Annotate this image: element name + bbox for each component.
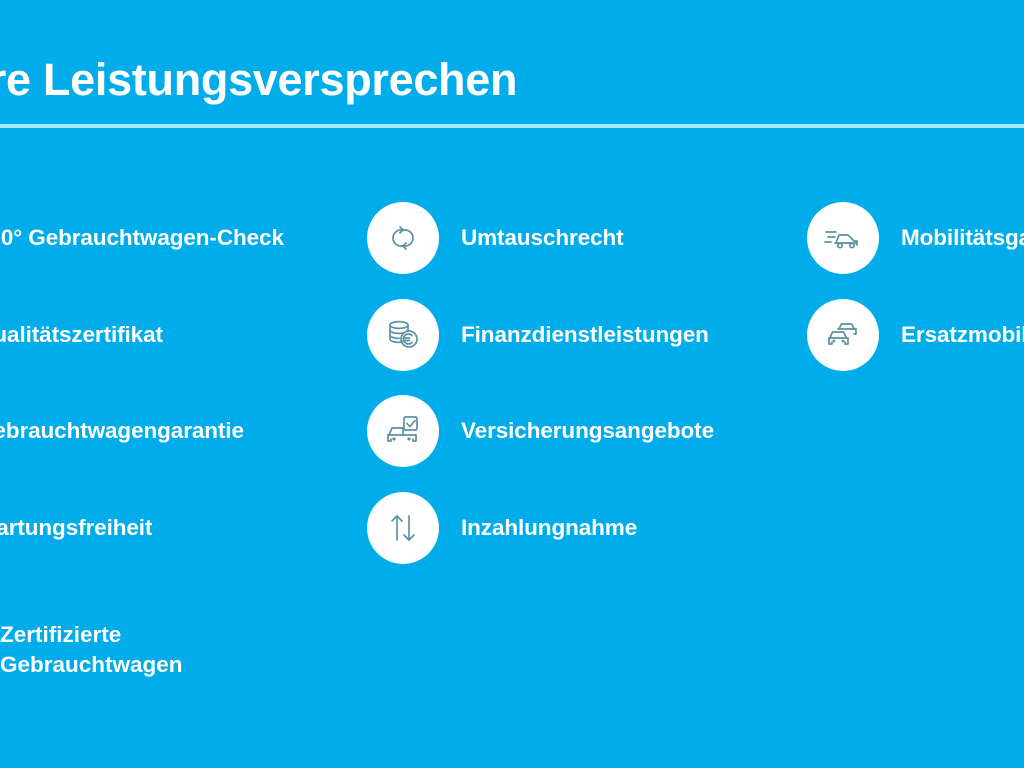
header-divider [0,124,1024,128]
feature-label: 360° Gebrauchtwagen-Check [0,225,284,251]
certified-badge-line-2: Gebrauchtwagen [0,650,402,680]
feature-label: Qualitätszertifikat [0,322,163,348]
slide-canvas: Unsere Leistungsversprechen 360° Gebrauc… [0,0,1024,768]
feature-item-gebrauchtwagengarantie[interactable]: Gebrauchtwagengarantie [0,383,352,480]
certified-badge-line-1: Zertifizierte [0,620,402,650]
up-down-arrows-icon [367,492,439,564]
feature-label: Inzahlungnahme [461,515,637,541]
feature-label: Mobilitätsgarantie [901,225,1024,251]
exchange-arrows-icon [367,202,439,274]
feature-item-gebrauchtwagen-check[interactable]: 360° Gebrauchtwagen-Check [0,190,352,287]
feature-item-versicherungsangebote[interactable]: Versicherungsangebote [367,383,837,480]
feature-label: Ersatzmobilität [901,322,1024,348]
feature-item-mobilitaetsgarantie[interactable]: Mobilitätsgarantie [807,190,1024,287]
feature-label: Versicherungsangebote [461,418,714,444]
feature-label: Umtauschrecht [461,225,624,251]
feature-column-2: Umtauschrecht Finanzdienstleistungen [367,190,837,576]
feature-label: Wartungsfreiheit [0,515,152,541]
feature-label: Gebrauchtwagengarantie [0,418,244,444]
feature-column-1: 360° Gebrauchtwagen-Check Qualitätszerti… [0,190,352,576]
feature-item-umtauschrecht[interactable]: Umtauschrecht [367,190,837,287]
feature-item-ersatzmobilitaet[interactable]: Ersatzmobilität [807,287,1024,384]
page-title: Unsere Leistungsversprechen [0,52,1024,108]
speeding-car-icon [807,202,879,274]
feature-item-wartungsfreiheit[interactable]: Wartungsfreiheit [0,480,352,577]
feature-column-3: Mobilitätsgarantie Ersatzmobilität [807,190,1024,383]
feature-item-finanzdienstleistungen[interactable]: Finanzdienstleistungen [367,287,837,384]
coins-euro-icon [367,299,439,371]
feature-item-qualitaetszertifikat[interactable]: Qualitätszertifikat [0,287,352,384]
certified-used-cars-badge: Zertifizierte Gebrauchtwagen [0,620,402,680]
car-checkbox-icon [367,395,439,467]
feature-label: Finanzdienstleistungen [461,322,709,348]
feature-item-inzahlungnahme[interactable]: Inzahlungnahme [367,480,837,577]
two-cars-icon [807,299,879,371]
